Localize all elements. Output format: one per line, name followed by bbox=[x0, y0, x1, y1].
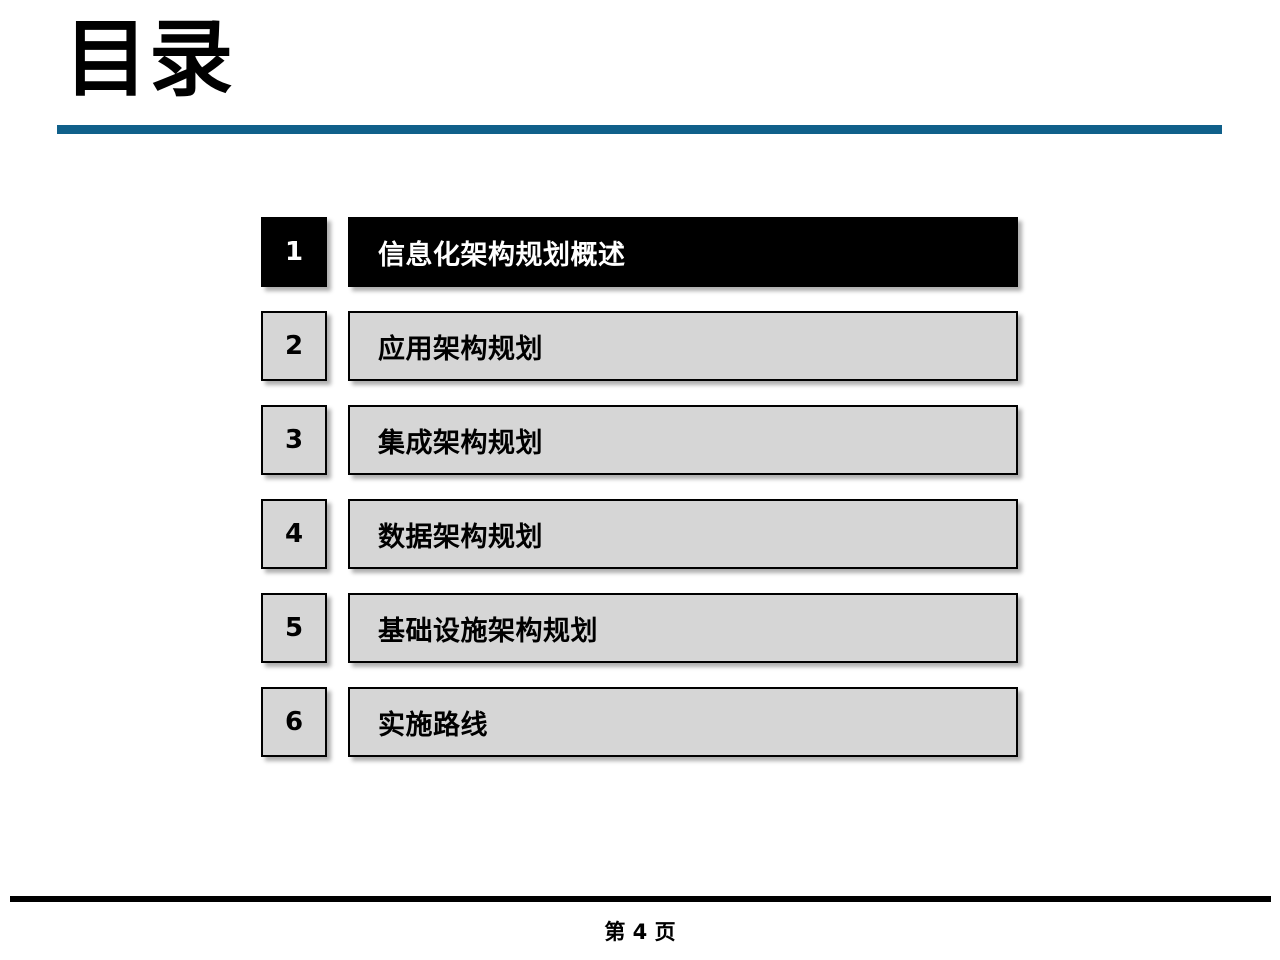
toc-number-label: 2 bbox=[285, 331, 303, 361]
table-of-contents: 1 信息化架构规划概述 2 应用架构规划 3 集成架构规划 4 bbox=[0, 217, 1280, 781]
toc-number-badge: 4 bbox=[261, 499, 327, 569]
toc-number-label: 5 bbox=[285, 613, 303, 643]
toc-item-label: 应用架构规划 bbox=[350, 327, 543, 366]
toc-item-label: 实施路线 bbox=[350, 703, 488, 742]
title-underline-rule bbox=[57, 125, 1222, 134]
toc-label-bar[interactable]: 集成架构规划 bbox=[348, 405, 1018, 475]
toc-number-badge: 2 bbox=[261, 311, 327, 381]
toc-item-label: 集成架构规划 bbox=[350, 421, 543, 460]
toc-number-label: 6 bbox=[285, 707, 303, 737]
toc-label-bar[interactable]: 实施路线 bbox=[348, 687, 1018, 757]
page-number: 第 4 页 bbox=[0, 916, 1280, 946]
page-title: 目录 bbox=[64, 14, 234, 105]
toc-number-label: 1 bbox=[285, 237, 303, 267]
toc-row[interactable]: 6 实施路线 bbox=[0, 687, 1280, 757]
toc-number-label: 4 bbox=[285, 519, 303, 549]
toc-number-label: 3 bbox=[285, 425, 303, 455]
footer-divider-rule bbox=[10, 896, 1271, 902]
toc-row[interactable]: 1 信息化架构规划概述 bbox=[0, 217, 1280, 287]
toc-row[interactable]: 2 应用架构规划 bbox=[0, 311, 1280, 381]
toc-label-bar[interactable]: 数据架构规划 bbox=[348, 499, 1018, 569]
toc-number-badge: 1 bbox=[261, 217, 327, 287]
toc-item-label: 信息化架构规划概述 bbox=[350, 233, 626, 272]
toc-number-badge: 5 bbox=[261, 593, 327, 663]
toc-item-label: 基础设施架构规划 bbox=[350, 609, 598, 648]
toc-row[interactable]: 5 基础设施架构规划 bbox=[0, 593, 1280, 663]
toc-item-label: 数据架构规划 bbox=[350, 515, 543, 554]
toc-number-badge: 6 bbox=[261, 687, 327, 757]
toc-label-bar[interactable]: 信息化架构规划概述 bbox=[348, 217, 1018, 287]
toc-row[interactable]: 4 数据架构规划 bbox=[0, 499, 1280, 569]
toc-label-bar[interactable]: 应用架构规划 bbox=[348, 311, 1018, 381]
slide: 目录 1 信息化架构规划概述 2 应用架构规划 3 集成架构规划 bbox=[0, 0, 1280, 960]
toc-number-badge: 3 bbox=[261, 405, 327, 475]
toc-row[interactable]: 3 集成架构规划 bbox=[0, 405, 1280, 475]
toc-label-bar[interactable]: 基础设施架构规划 bbox=[348, 593, 1018, 663]
